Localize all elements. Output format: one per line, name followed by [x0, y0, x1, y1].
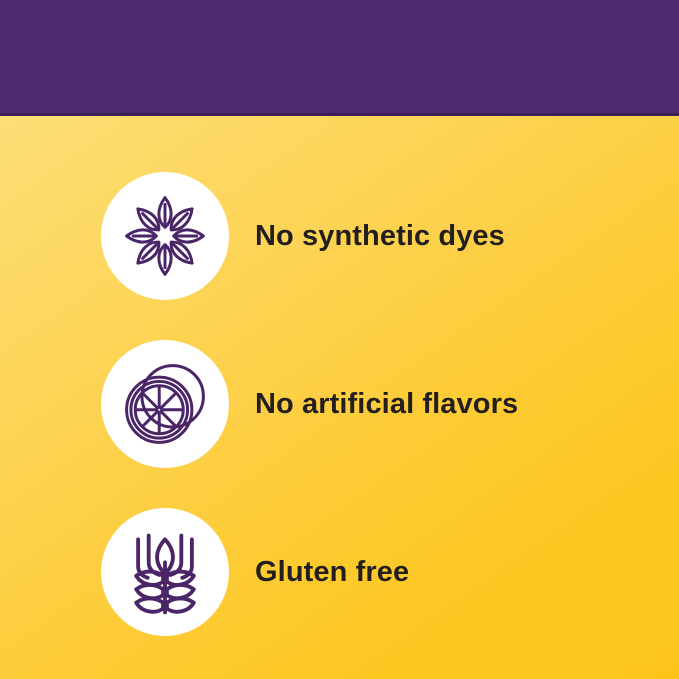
icon-badge [101, 340, 229, 468]
citrus-slice-icon [117, 356, 213, 452]
icon-badge [101, 172, 229, 300]
header-banner [0, 0, 679, 113]
header-banner-underline [0, 113, 679, 116]
list-item: No synthetic dyes [0, 152, 679, 320]
feature-label: Gluten free [255, 556, 409, 589]
list-item: No artificial flavors [0, 320, 679, 488]
feature-label: No synthetic dyes [255, 220, 505, 253]
wheat-stalk-icon [117, 524, 213, 620]
list-item: Gluten free [0, 488, 679, 656]
feature-label: No artificial flavors [255, 388, 518, 421]
feature-list: No synthetic dyes [0, 116, 679, 679]
icon-badge [101, 508, 229, 636]
promo-graphic: Quality you can trust [0, 0, 679, 679]
flower-petals-icon [117, 188, 213, 284]
